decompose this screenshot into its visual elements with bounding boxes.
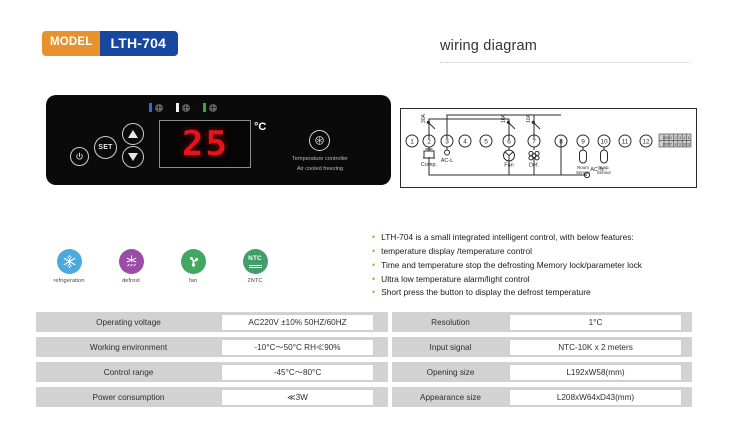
svg-text:5: 5 <box>484 138 488 145</box>
spec-value: -10°C～50°C RH≪90% <box>221 339 374 356</box>
ntc-lines <box>249 263 262 268</box>
svg-text:9: 9 <box>581 138 585 145</box>
svg-text:1: 1 <box>670 136 672 140</box>
snowflake-icon <box>314 135 325 146</box>
snowflake-led-icon <box>155 104 163 112</box>
spec-value: AC220V ±10% 50HZ/60HZ <box>221 314 374 331</box>
specifications-table-right: Resolution 1°C Input signal NTC-10K x 2 … <box>392 312 692 412</box>
spec-value: 1°C <box>509 314 682 331</box>
svg-text:3: 3 <box>679 136 681 140</box>
spec-value: ≪3W <box>221 389 374 406</box>
wiring-diagram-title: wiring diagram <box>440 38 537 54</box>
up-button[interactable] <box>122 123 144 145</box>
bullet-icon: • <box>372 261 375 270</box>
svg-text:AC-N: AC-N <box>590 167 603 173</box>
cooling-led <box>149 103 163 112</box>
product-spec-sheet: MODEL LTH-704 wiring diagram SE <box>0 0 733 422</box>
feature-fan: fan <box>174 249 212 284</box>
spec-label: Working environment <box>36 337 221 357</box>
svg-text:2: 2 <box>427 138 431 145</box>
svg-text:10: 10 <box>600 138 608 145</box>
feature-list-item: • Ultra low temperature alarm/light cont… <box>372 274 717 285</box>
feature-refrigeration: refrigeration <box>50 249 88 284</box>
feature-list-text: Time and temperature stop the defrosting… <box>381 260 642 271</box>
up-arrow-icon <box>128 130 138 138</box>
model-badge: MODEL LTH-704 <box>42 31 178 56</box>
set-button[interactable]: SET <box>94 136 117 159</box>
svg-text:4: 4 <box>684 136 686 140</box>
svg-text:10: 10 <box>683 142 687 146</box>
controller-panel: SET 25 °C Temperature controller Air coo… <box>46 95 391 185</box>
panel-caption-line2: Air cooled freezing <box>260 165 380 175</box>
svg-text:2: 2 <box>675 136 677 140</box>
feature-caption: 2NTC <box>236 278 274 284</box>
feature-list-text: LTH-704 is a small integrated intelligen… <box>381 232 634 243</box>
model-label: MODEL <box>42 31 100 56</box>
feature-caption: fan <box>174 278 212 284</box>
feature-list: • LTH-704 is a small integrated intellig… <box>372 232 717 301</box>
spec-value: L192xW58(mm) <box>509 364 682 381</box>
svg-text:7: 7 <box>670 142 672 146</box>
feature-caption: refrigeration <box>50 278 88 284</box>
down-button[interactable] <box>122 146 144 168</box>
table-row: Operating voltage AC220V ±10% 50HZ/60HZ <box>36 312 388 332</box>
display-value: 25 <box>181 127 228 161</box>
feature-caption: defrost <box>112 278 150 284</box>
table-row: Power consumption ≪3W <box>36 387 388 407</box>
feature-defrost: defrost <box>112 249 150 284</box>
svg-text:11: 11 <box>687 142 691 146</box>
fan-led-icon <box>209 104 217 112</box>
spec-label: Resolution <box>392 312 509 332</box>
svg-text:30A: 30A <box>421 113 427 123</box>
ntc-label: NTC <box>248 255 262 262</box>
svg-text:Fan: Fan <box>504 163 513 169</box>
bullet-icon: • <box>372 247 375 256</box>
feature-list-item: • Time and temperature stop the defrosti… <box>372 260 717 271</box>
feature-list-text: Ultra low temperature alarm/light contro… <box>381 274 529 285</box>
table-row: Input signal NTC-10K x 2 meters <box>392 337 692 357</box>
svg-text:6: 6 <box>507 138 511 145</box>
display-unit: °C <box>254 121 266 133</box>
table-row: Resolution 1°C <box>392 312 692 332</box>
svg-text:1: 1 <box>410 138 414 145</box>
svg-text:4: 4 <box>463 138 467 145</box>
svg-text:10A: 10A <box>501 113 507 123</box>
bullet-icon: • <box>372 233 375 242</box>
wiring-diagram: 30A 10A 10A 1 2 3 4 5 6 7 8 9 10 11 12 <box>400 108 697 188</box>
spec-label: Opening size <box>392 362 509 382</box>
bullet-icon: • <box>372 288 375 297</box>
svg-text:7: 7 <box>532 138 536 145</box>
defrost-icon <box>119 249 144 274</box>
spec-value: L208xW64xD43(mm) <box>509 389 682 406</box>
svg-text:10A: 10A <box>526 113 532 123</box>
feature-ntc: NTC 2NTC <box>236 249 274 284</box>
table-row: Opening size L192xW58(mm) <box>392 362 692 382</box>
model-value: LTH-704 <box>100 31 179 56</box>
table-row: Control range -45°C～80°C <box>36 362 388 382</box>
feature-list-item: • Short press the button to display the … <box>372 287 717 298</box>
fan-led <box>203 103 217 112</box>
power-icon <box>75 152 84 161</box>
wiring-diagram-divider <box>440 62 690 64</box>
svg-text:5: 5 <box>688 136 690 140</box>
table-row: Working environment -10°C～50°C RH≪90% <box>36 337 388 357</box>
specifications-table-left: Operating voltage AC220V ±10% 50HZ/60HZ … <box>36 312 388 412</box>
down-arrow-icon <box>128 153 138 161</box>
spec-value: -45°C～80°C <box>221 364 374 381</box>
feature-icons: refrigeration defrost <box>50 249 274 284</box>
spec-label: Operating voltage <box>36 312 221 332</box>
feature-list-item: • temperature display /temperature contr… <box>372 246 717 257</box>
svg-text:9: 9 <box>679 142 681 146</box>
panel-caption: Temperature controller Air cooled freezi… <box>260 155 380 175</box>
spec-value: NTC-10K x 2 meters <box>509 339 682 356</box>
control-buttons: SET <box>70 123 156 171</box>
svg-text:Comp.: Comp. <box>421 162 438 168</box>
table-row: Appearance size L208xW64xD43(mm) <box>392 387 692 407</box>
svg-text:3: 3 <box>445 138 449 145</box>
fan-icon <box>181 249 206 274</box>
svg-text:12: 12 <box>642 138 650 145</box>
defrost-led-icon <box>182 104 190 112</box>
snowflake-button[interactable] <box>309 130 330 151</box>
spec-label: Power consumption <box>36 387 221 407</box>
temperature-display: 25 <box>159 120 251 168</box>
spec-label: Appearance size <box>392 387 509 407</box>
power-button[interactable] <box>70 147 89 166</box>
svg-text:Def.: Def. <box>529 163 540 169</box>
snowflake-icon <box>57 249 82 274</box>
wiring-diagram-svg: 30A 10A 10A 1 2 3 4 5 6 7 8 9 10 11 12 <box>401 109 696 187</box>
indicator-leds <box>149 103 217 112</box>
spec-label: Control range <box>36 362 221 382</box>
feature-list-text: temperature display /temperature control <box>381 246 532 257</box>
feature-list-text: Short press the button to display the de… <box>381 287 591 298</box>
panel-caption-line1: Temperature controller <box>260 155 380 165</box>
bullet-icon: • <box>372 275 375 284</box>
svg-text:8: 8 <box>675 142 677 146</box>
svg-text:11: 11 <box>622 138 629 145</box>
feature-list-item: • LTH-704 is a small integrated intellig… <box>372 232 717 243</box>
svg-text:8: 8 <box>559 138 563 145</box>
ntc-icon: NTC <box>243 249 268 274</box>
defrost-led <box>176 103 190 112</box>
svg-text:AC-L: AC-L <box>441 158 454 164</box>
spec-label: Input signal <box>392 337 509 357</box>
